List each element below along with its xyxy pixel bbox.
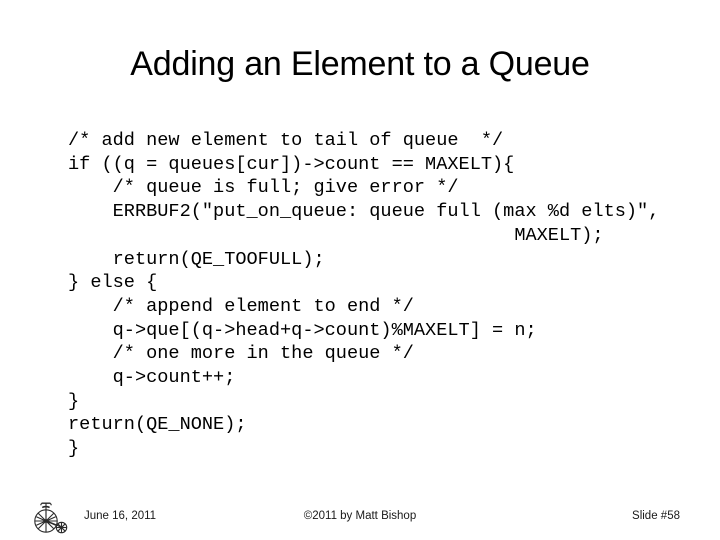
code-block: /* add new element to tail of queue */if… bbox=[68, 129, 688, 461]
footer-slide-number: Slide #58 bbox=[0, 509, 680, 523]
slide-footer: June 16, 2011 ©2011 by Matt Bishop Slide… bbox=[0, 496, 720, 540]
code-line: q->count++; bbox=[68, 366, 688, 390]
code-line: } bbox=[68, 390, 688, 414]
code-line: /* one more in the queue */ bbox=[68, 342, 688, 366]
code-line: } else { bbox=[68, 271, 688, 295]
code-line: q->que[(q->head+q->count)%MAXELT] = n; bbox=[68, 319, 688, 343]
code-line: ERRBUF2("put_on_queue: queue full (max %… bbox=[68, 200, 688, 224]
code-line: return(QE_TOOFULL); bbox=[68, 248, 688, 272]
page-title: Adding an Element to a Queue bbox=[40, 44, 680, 84]
code-line: MAXELT); bbox=[68, 224, 688, 248]
slide-canvas: Adding an Element to a Queue /* add new … bbox=[0, 0, 720, 540]
penny-farthing-bicycle-icon bbox=[32, 497, 68, 535]
code-line: if ((q = queues[cur])->count == MAXELT){ bbox=[68, 153, 688, 177]
code-line: /* append element to end */ bbox=[68, 295, 688, 319]
code-line: } bbox=[68, 437, 688, 461]
code-line: /* queue is full; give error */ bbox=[68, 176, 688, 200]
code-line: return(QE_NONE); bbox=[68, 413, 688, 437]
code-line: /* add new element to tail of queue */ bbox=[68, 129, 688, 153]
